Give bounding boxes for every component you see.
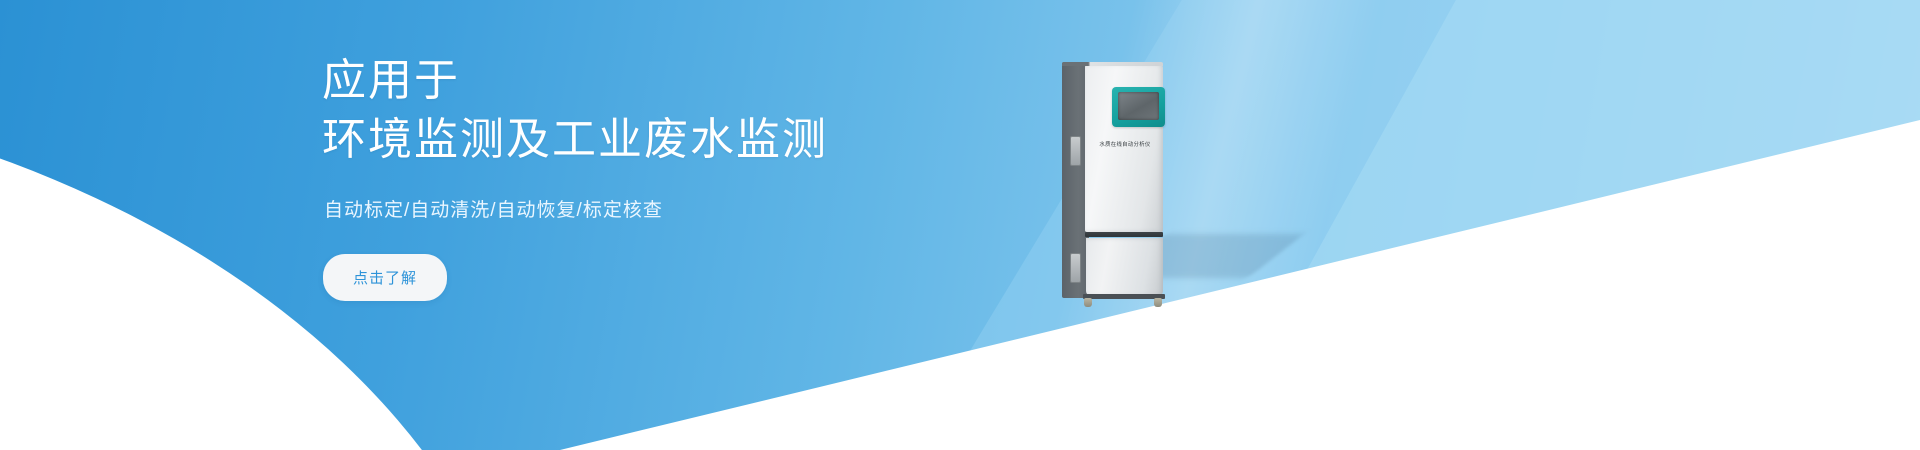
device-cabinet-divider [1085,232,1163,237]
device-front-label: 水质在线自动分析仪 [1088,140,1162,148]
hero-banner: 应用于 环境监测及工业废水监测 自动标定/自动清洗/自动恢复/标定核查 点击了解… [0,0,1920,450]
device-base [1083,294,1165,299]
banner-content: 应用于 环境监测及工业废水监测 自动标定/自动清洗/自动恢复/标定核查 点击了解 [322,52,1082,301]
device-lower-cabinet [1086,238,1163,296]
device-caster-right [1154,298,1162,307]
device-screen [1118,92,1159,120]
background-white-corner [0,390,200,450]
headline-line-1: 应用于 [322,56,460,105]
device-caster-left [1084,298,1092,307]
learn-more-button[interactable]: 点击了解 [323,254,447,301]
page-title: 应用于 环境监测及工业废水监测 [322,52,1082,169]
banner-subtitle: 自动标定/自动清洗/自动恢复/标定核查 [324,195,1082,222]
headline-line-2: 环境监测及工业废水监测 [322,111,1082,170]
